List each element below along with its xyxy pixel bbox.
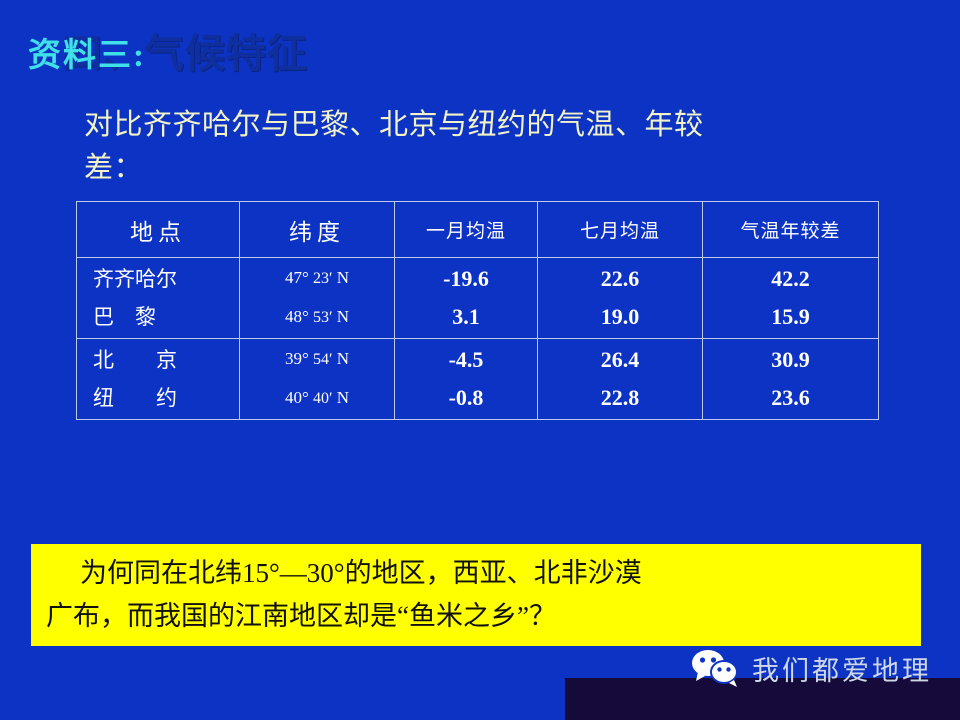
- july-value: 26.4: [538, 341, 702, 379]
- slide-canvas: 四、气候特征 资料三: 对比齐齐哈尔与巴黎、北京与纽约的气温、年较 差： 地点 …: [0, 0, 960, 720]
- latitude-hemisphere: N: [337, 349, 349, 368]
- latitude-degrees: 47°: [285, 268, 309, 287]
- cell-january-mean: -4.5 -0.8: [395, 339, 538, 420]
- latitude-value: 39° 54′ N: [240, 340, 394, 379]
- latitude-value: 40° 40′ N: [240, 379, 394, 418]
- range-value: 42.2: [703, 260, 878, 298]
- question-line-2: 广布，而我国的江南地区却是“鱼米之乡”？: [46, 595, 906, 638]
- latitude-minutes: 23′: [313, 270, 333, 287]
- climate-comparison-table: 地点 纬度 一月均温 七月均温 气温年较差 齐齐哈尔 巴 黎: [76, 201, 879, 420]
- cell-january-mean: -19.6 3.1: [395, 258, 538, 339]
- latitude-degrees: 48°: [285, 307, 309, 326]
- latitude-minutes: 53′: [313, 309, 333, 326]
- cell-july-mean: 26.4 22.8: [538, 339, 703, 420]
- question-line-1: 为何同在北纬15°—30°的地区，西亚、北非沙漠: [46, 552, 906, 595]
- question-line-1-text: 为何同在北纬15°—30°的地区，西亚、北非沙漠: [80, 558, 642, 588]
- subtitle: 对比齐齐哈尔与巴黎、北京与纽约的气温、年较 差：: [84, 104, 724, 190]
- july-value: 22.8: [538, 379, 702, 417]
- question-text: 为何同在北纬15°—30°的地区，西亚、北非沙漠 广布，而我国的江南地区却是“鱼…: [46, 552, 906, 638]
- place-name: 纽 约: [77, 379, 239, 417]
- latitude-minutes: 54′: [313, 351, 333, 368]
- subtitle-line-2: 差：: [84, 147, 724, 190]
- january-value: -0.8: [395, 379, 537, 417]
- question-callout-box: 为何同在北纬15°—30°的地区，西亚、北非沙漠 广布，而我国的江南地区却是“鱼…: [32, 545, 920, 645]
- latitude-hemisphere: N: [337, 307, 349, 326]
- latitude-minutes: 40′: [313, 390, 333, 407]
- table-row: 北 京 纽 约 39° 54′ N 40° 40′: [77, 339, 879, 420]
- title-zone: 四、气候特征 资料三:: [0, 26, 960, 92]
- column-header-annual-range: 气温年较差: [703, 202, 879, 258]
- column-header-latitude: 纬度: [240, 202, 395, 258]
- january-value: -4.5: [395, 341, 537, 379]
- cell-place: 齐齐哈尔 巴 黎: [77, 258, 240, 339]
- latitude-value: 47° 23′ N: [240, 259, 394, 298]
- subtitle-line-1: 对比齐齐哈尔与巴黎、北京与纽约的气温、年较: [84, 104, 724, 147]
- july-value: 19.0: [538, 298, 702, 336]
- latitude-degrees: 40°: [285, 388, 309, 407]
- cell-place: 北 京 纽 约: [77, 339, 240, 420]
- cell-latitude: 47° 23′ N 48° 53′ N: [240, 258, 395, 339]
- place-name: 北 京: [77, 341, 239, 379]
- column-header-january-mean: 一月均温: [395, 202, 538, 258]
- range-value: 23.6: [703, 379, 878, 417]
- cell-latitude: 39° 54′ N 40° 40′ N: [240, 339, 395, 420]
- cell-annual-range: 42.2 15.9: [703, 258, 879, 339]
- column-header-place: 地点: [77, 202, 240, 258]
- table-header-row: 地点 纬度 一月均温 七月均温 气温年较差: [77, 202, 879, 258]
- wechat-watermark: 我们都爱地理: [690, 648, 932, 688]
- range-value: 15.9: [703, 298, 878, 336]
- latitude-degrees: 39°: [285, 349, 309, 368]
- table-row: 齐齐哈尔 巴 黎 47° 23′ N 48° 53′: [77, 258, 879, 339]
- watermark-label: 我们都爱地理: [752, 649, 932, 688]
- place-name: 巴 黎: [77, 298, 239, 336]
- january-value: 3.1: [395, 298, 537, 336]
- latitude-value: 48° 53′ N: [240, 298, 394, 337]
- latitude-hemisphere: N: [337, 268, 349, 287]
- range-value: 30.9: [703, 341, 878, 379]
- cell-july-mean: 22.6 19.0: [538, 258, 703, 339]
- cell-annual-range: 30.9 23.6: [703, 339, 879, 420]
- latitude-hemisphere: N: [337, 388, 349, 407]
- july-value: 22.6: [538, 260, 702, 298]
- material-label: 资料三:: [28, 32, 146, 80]
- column-header-july-mean: 七月均温: [538, 202, 703, 258]
- january-value: -19.6: [395, 260, 537, 298]
- wechat-icon: [690, 648, 742, 688]
- place-name: 齐齐哈尔: [77, 260, 239, 298]
